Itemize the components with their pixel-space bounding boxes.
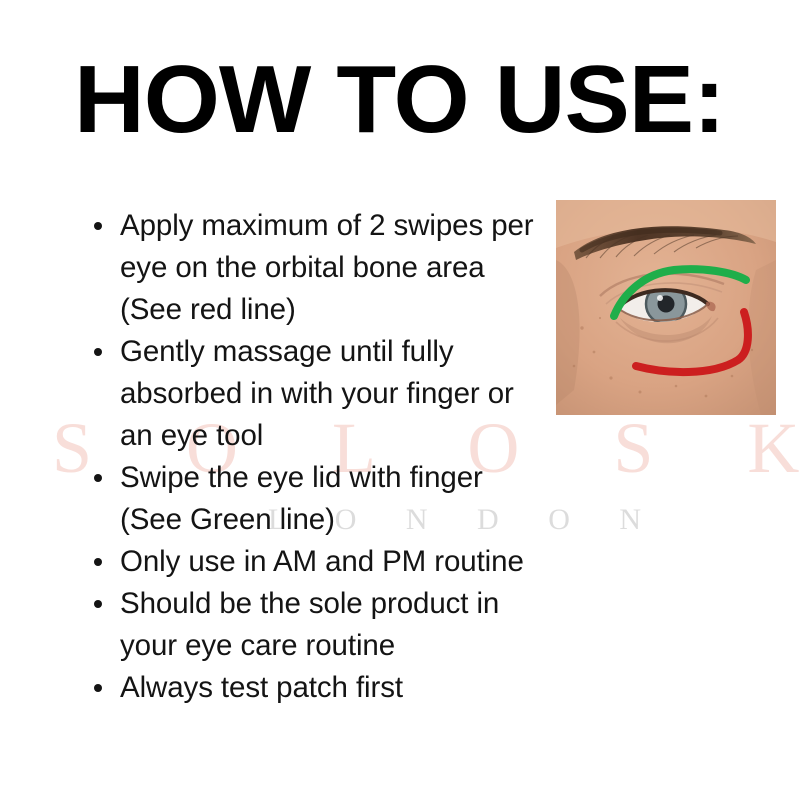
bullet-dot-icon <box>94 222 102 230</box>
list-item: Swipe the eye lid with finger (See Green… <box>88 457 538 541</box>
instruction-list: Apply maximum of 2 swipes per eye on the… <box>88 205 538 709</box>
list-item-label: Always test patch first <box>120 671 403 704</box>
list-item-label: Apply maximum of 2 swipes per eye on the… <box>120 209 534 326</box>
list-item: Should be the sole product in your eye c… <box>88 583 538 667</box>
list-item-label: Only use in AM and PM routine <box>120 545 524 578</box>
list-item: Apply maximum of 2 swipes per eye on the… <box>88 205 538 331</box>
eye-illustration <box>556 200 776 415</box>
bullet-dot-icon <box>94 474 102 482</box>
bullet-dot-icon <box>94 684 102 692</box>
page-title: HOW TO USE: <box>74 52 725 148</box>
list-item-label: Swipe the eye lid with finger (See Green… <box>120 461 483 536</box>
list-item-label: Should be the sole product in your eye c… <box>120 587 499 662</box>
list-item: Always test patch first <box>88 667 538 709</box>
list-item-label: Gently massage until fully absorbed in w… <box>120 335 514 452</box>
list-item: Only use in AM and PM routine <box>88 541 538 583</box>
bullet-dot-icon <box>94 558 102 566</box>
bullet-dot-icon <box>94 348 102 356</box>
instruction-card: S O L O S K I N L O N D O N HOW TO USE: … <box>0 0 800 800</box>
list-item: Gently massage until fully absorbed in w… <box>88 331 538 457</box>
eye-highlight <box>657 295 663 301</box>
eye-diagram-photo <box>556 200 776 415</box>
bullet-dot-icon <box>94 600 102 608</box>
